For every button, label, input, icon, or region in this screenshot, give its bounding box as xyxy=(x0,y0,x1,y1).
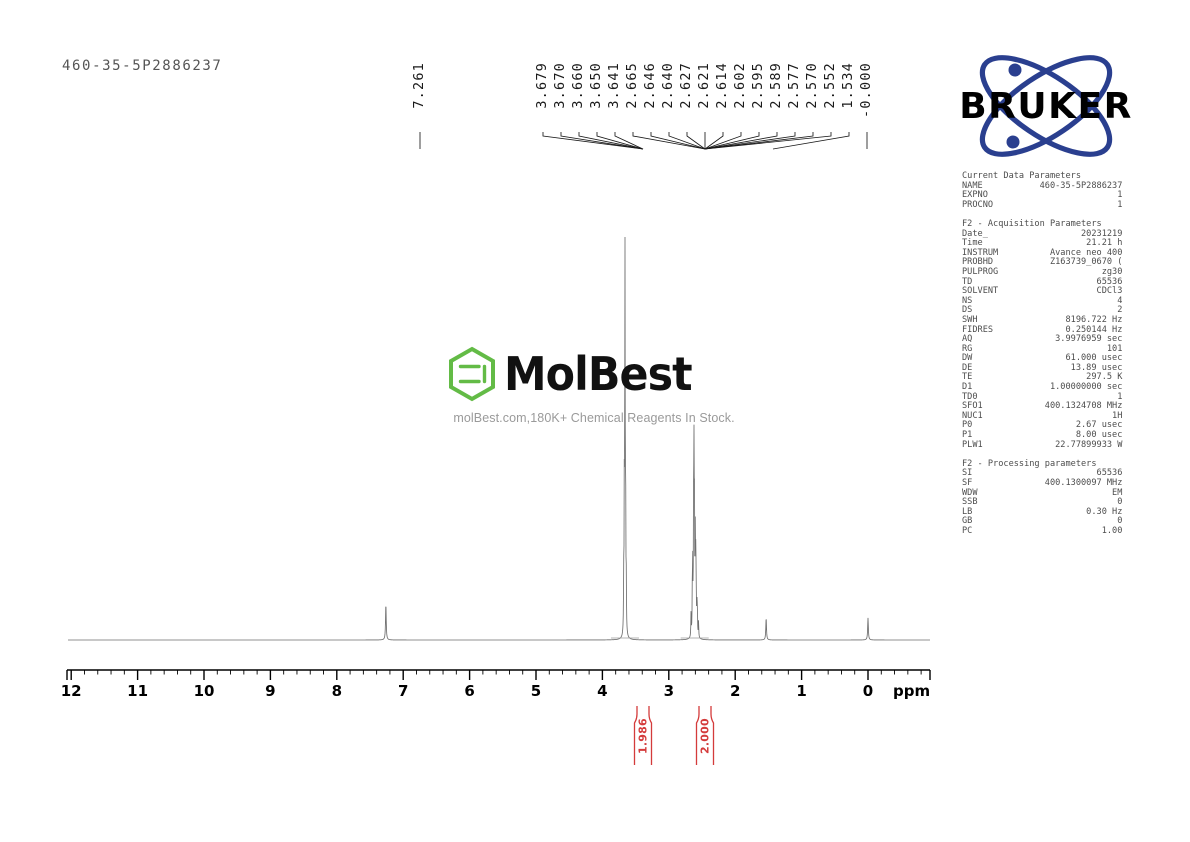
integral-value: 2.000 xyxy=(692,705,718,767)
param-row: PROCNO 1 xyxy=(962,201,1137,211)
molbest-watermark: MolBest molBest.com,180K+ Chemical Reage… xyxy=(446,345,746,435)
param-row: PC 1.00 xyxy=(962,527,1137,537)
axis-tick-label: 8 xyxy=(332,682,342,700)
param-row: PLW1 22.77899933 W xyxy=(962,441,1137,451)
axis-tick-label: 3 xyxy=(664,682,674,700)
orbit-node-bottom xyxy=(1007,136,1020,149)
axis-tick-label: 1 xyxy=(796,682,806,700)
bruker-wordmark: BRUKER xyxy=(959,86,1133,127)
nmr-report-page: 460-35-5P2886237 7.2613.6793.6703.6603.6… xyxy=(0,0,1190,842)
integral-marker: 2.000 xyxy=(692,705,718,767)
axis-tick-label: 9 xyxy=(265,682,275,700)
hexagon-icon xyxy=(446,346,498,402)
watermark-brand-name: MolBest xyxy=(504,351,692,397)
axis-tick-label: 11 xyxy=(127,682,148,700)
axis-tick-label: 4 xyxy=(597,682,607,700)
watermark-tagline: molBest.com,180K+ Chemical Reagents In S… xyxy=(446,411,742,425)
acquisition-parameter-panel: Current Data ParametersNAME 460-35-5P288… xyxy=(962,172,1137,537)
axis-tick-label: 5 xyxy=(531,682,541,700)
axis-tick-label: 12 xyxy=(61,682,82,700)
integral-group: 1.9862.000 xyxy=(0,700,1190,780)
axis-tick-label: 2 xyxy=(730,682,740,700)
axis-unit-label: ppm xyxy=(893,682,930,700)
bruker-logo: BRUKER xyxy=(953,52,1139,160)
integral-marker: 1.986 xyxy=(630,705,656,767)
integral-value: 1.986 xyxy=(630,705,656,767)
axis-tick-label: 7 xyxy=(398,682,408,700)
axis-tick-label: 10 xyxy=(194,682,215,700)
spectrum-trace xyxy=(68,237,930,640)
axis-ruler xyxy=(0,660,1190,684)
axis-tick-label: 0 xyxy=(863,682,873,700)
axis-tick-label: 6 xyxy=(464,682,474,700)
orbit-node-top xyxy=(1009,64,1022,77)
